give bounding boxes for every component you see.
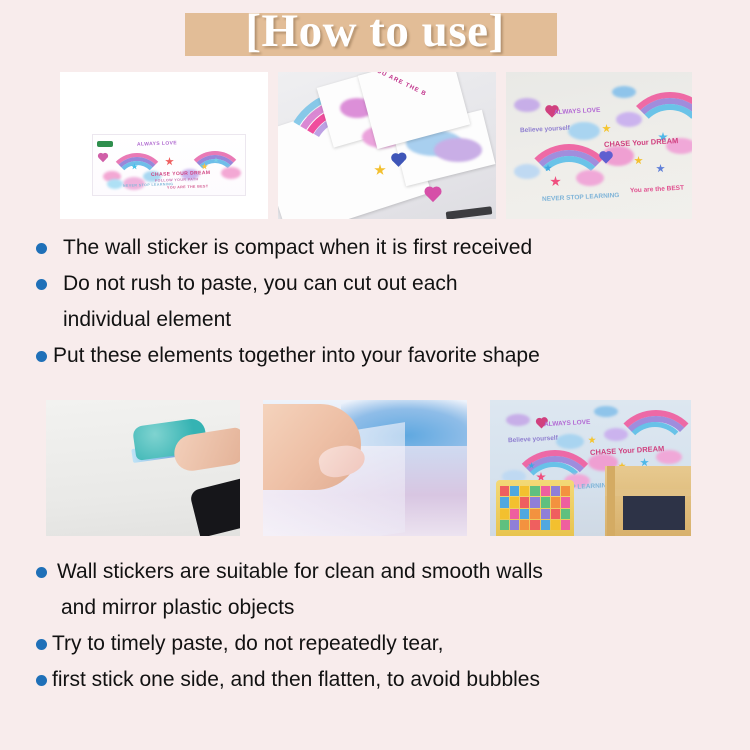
list-item: The wall sticker is compact when it is f…: [36, 230, 726, 266]
list-item: Put these elements together into your fa…: [36, 338, 726, 374]
list-item: Do not rush to paste, you can cut out ea…: [36, 266, 726, 302]
list-item: first stick one side, and then flatten, …: [36, 662, 726, 698]
photo-row-top: ALWAYS LOVE CHASE YOUR DREAM FOLLOW YOUR…: [60, 72, 692, 219]
list-item-label: The wall sticker is compact when it is f…: [63, 230, 532, 266]
list-item-label: individual element: [63, 302, 231, 338]
bullet-dot-icon: [36, 351, 47, 362]
photo-arranged-on-wall[interactable]: ALWAYS LOVE Believe yourself CHASE Your …: [506, 72, 692, 219]
page-header: [How to use]: [0, 0, 750, 68]
photo-peel-backing[interactable]: [263, 400, 467, 536]
photo-sticker-sheet-packed[interactable]: ALWAYS LOVE CHASE YOUR DREAM FOLLOW YOUR…: [60, 72, 268, 219]
bunk-bed-rail: [605, 489, 691, 496]
list-item-label: Do not rush to paste, you can cut out ea…: [63, 266, 458, 302]
list-item: Try to timely paste, do not repeatedly t…: [36, 626, 726, 662]
bullet-dot-icon: [36, 567, 47, 578]
sheet-text-always-love: ALWAYS LOVE: [137, 140, 177, 147]
bullet-dot-icon: [36, 279, 47, 290]
bullet-dot-icon: [36, 639, 47, 650]
bunk-bed-post: [607, 466, 615, 536]
brand-tag-icon: [97, 141, 113, 147]
list-item-label: first stick one side, and then flatten, …: [52, 662, 540, 698]
photo-row-bottom: ALWAYS LOVE Believe yourself CHASE Your …: [46, 400, 691, 536]
bullet-dot-icon: [36, 243, 47, 254]
list-item-continuation: individual element: [36, 302, 726, 338]
bunk-bed-opening: [623, 496, 685, 530]
page-title: [How to use]: [0, 0, 750, 62]
list-item-continuation: and mirror plastic objects: [36, 590, 726, 626]
list-item-label: Put these elements together into your fa…: [53, 338, 540, 374]
list-item: Wall stickers are suitable for clean and…: [36, 554, 726, 590]
sticker-sheet: ALWAYS LOVE CHASE YOUR DREAM FOLLOW YOUR…: [92, 134, 246, 196]
alphabet-blocks: [500, 486, 570, 530]
bullet-dot-icon: [36, 675, 47, 686]
list-item-label: and mirror plastic objects: [61, 590, 294, 626]
list-item-label: Wall stickers are suitable for clean and…: [57, 554, 543, 590]
instruction-list-top: The wall sticker is compact when it is f…: [36, 230, 726, 374]
list-item-label: Try to timely paste, do not repeatedly t…: [52, 626, 443, 662]
photo-clean-wall-with-towel[interactable]: [46, 400, 240, 536]
instruction-list-bottom: Wall stickers are suitable for clean and…: [36, 554, 726, 698]
photo-cut-out-pieces[interactable]: OU ARE THE B: [278, 72, 496, 219]
photo-finished-kids-room[interactable]: ALWAYS LOVE Believe yourself CHASE Your …: [490, 400, 691, 536]
